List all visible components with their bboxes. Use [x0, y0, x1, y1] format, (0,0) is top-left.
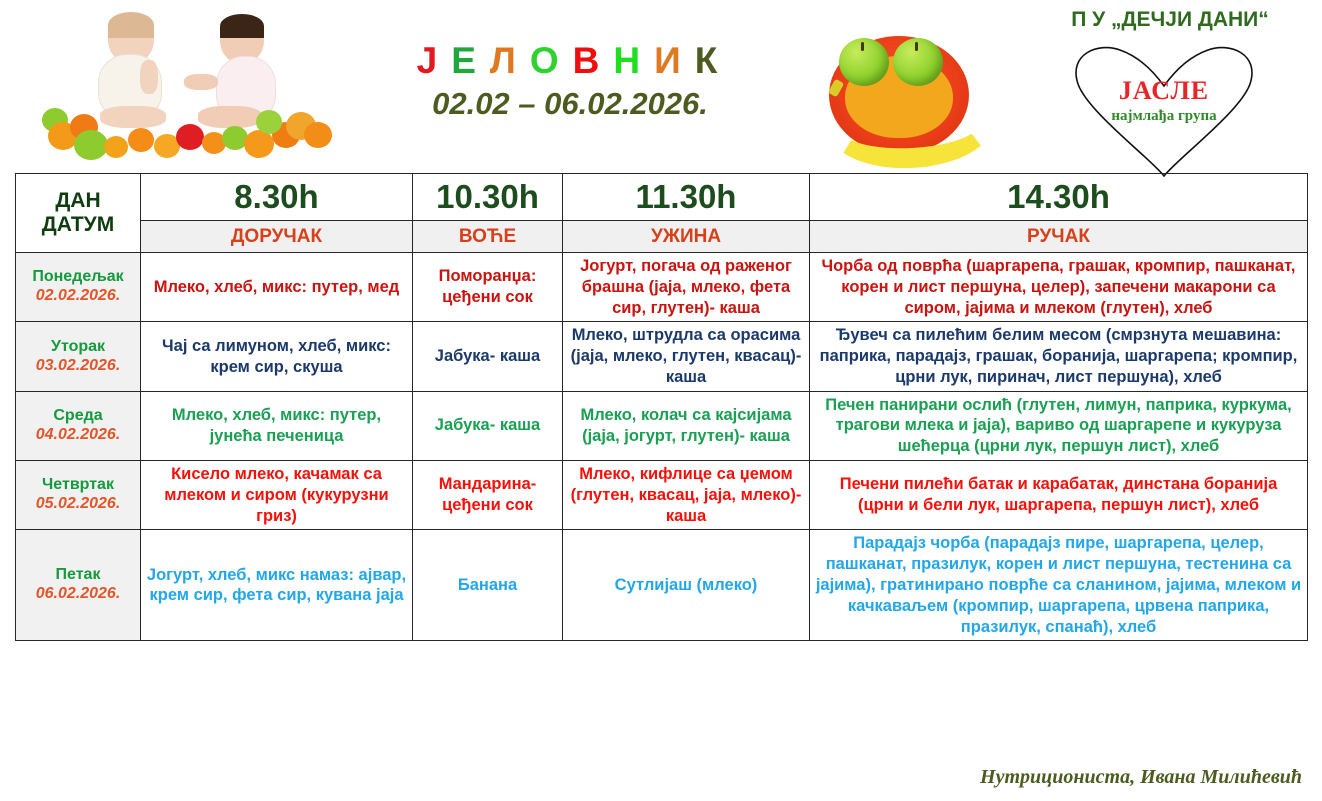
table-header-meals-row: ДОРУЧАК ВОЋЕ УЖИНА РУЧАК — [16, 221, 1308, 253]
breakfast-cell: Кисело млеко, качамак са млеком и сиром … — [141, 461, 413, 530]
day-cell: Среда 04.02.2026. — [16, 391, 141, 460]
breakfast-cell: Млеко, хлеб, микс: путер, мед — [141, 253, 413, 322]
day-name: Среда — [21, 407, 135, 426]
breakfast-cell: Млеко, хлеб, микс: путер, јунећа печениц… — [141, 391, 413, 460]
lunch-cell: Печен панирани ослић (глутен, лимун, пап… — [810, 391, 1308, 460]
day-name: Уторак — [21, 338, 135, 357]
day-date: 06.02.2026. — [21, 585, 135, 604]
title-letter: Ј — [413, 40, 448, 81]
heart-outline-icon: ЈАСЛЕ најмлађа група — [1054, 40, 1274, 180]
snack-cell: Млеко, кифлице са џемом (глутен, квасац,… — [563, 461, 810, 530]
title-letter: Е — [447, 40, 486, 81]
lunch-cell: Чорба од поврћа (шаргарепа, грашак, кром… — [810, 253, 1308, 322]
time-header-fruit: 10.30h — [413, 174, 563, 221]
lunch-cell: Ђувеч са пилећим белим месом (смрзнута м… — [810, 322, 1308, 391]
page-title: ЈЕЛОВНИК — [360, 40, 780, 82]
institution-logo-block: П У „ДЕЧЈИ ДАНИ“ ЈАСЛЕ најмлађа група — [1020, 8, 1320, 176]
day-name: Понедељак — [21, 268, 135, 287]
banana-mouth-icon — [827, 82, 995, 172]
apple-eye-right-icon — [893, 38, 943, 86]
lunch-cell: Парадајз чорба (парадајз пире, шаргарепа… — [810, 530, 1308, 641]
fruit-cell: Поморанџа: цеђени сок — [413, 253, 563, 322]
time-header-breakfast: 8.30h — [141, 174, 413, 221]
day-date: 04.02.2026. — [21, 426, 135, 445]
day-header-label: ДАН — [55, 189, 100, 212]
date-range: 02.02 – 06.02.2026. — [360, 86, 780, 122]
day-date: 03.02.2026. — [21, 357, 135, 376]
table-row: Среда 04.02.2026. Млеко, хлеб, микс: пут… — [16, 391, 1308, 460]
group-subtitle: најмлађа група — [1054, 108, 1274, 125]
breakfast-cell: Јогурт, хлеб, микс намаз: ајвар, крем си… — [141, 530, 413, 641]
meal-header-breakfast: ДОРУЧАК — [141, 221, 413, 253]
meal-header-fruit: ВОЋЕ — [413, 221, 563, 253]
babies-with-fruit-photo — [8, 2, 338, 164]
snack-cell: Јогурт, погача од раженог брашна (јаја, … — [563, 253, 810, 322]
meal-header-lunch: РУЧАК — [810, 221, 1308, 253]
fruit-cell: Мандарина- цеђени сок — [413, 461, 563, 530]
fruit-cell: Јабука- каша — [413, 322, 563, 391]
title-letter: В — [569, 40, 610, 81]
lunch-cell: Печени пилећи батак и карабатак, динстан… — [810, 461, 1308, 530]
title-letter: Н — [609, 40, 650, 81]
date-header-label: ДАТУМ — [42, 213, 114, 236]
time-header-lunch: 14.30h — [810, 174, 1308, 221]
day-cell: Уторак 03.02.2026. — [16, 322, 141, 391]
day-cell: Четвртак 05.02.2026. — [16, 461, 141, 530]
time-header-snack: 11.30h — [563, 174, 810, 221]
title-letter: Л — [486, 40, 526, 81]
breakfast-cell: Чај са лимуном, хлеб, микс: крем сир, ск… — [141, 322, 413, 391]
snack-cell: Сутлијаш (млеко) — [563, 530, 810, 641]
title-letter: О — [526, 40, 569, 81]
institution-name: П У „ДЕЧЈИ ДАНИ“ — [1020, 8, 1320, 32]
nutritionist-signature: Нутрициониста, Ивана Милићевић — [980, 766, 1302, 789]
table-row: Четвртак 05.02.2026. Кисело млеко, качам… — [16, 461, 1308, 530]
meal-header-snack: УЖИНА — [563, 221, 810, 253]
day-name: Четвртак — [21, 476, 135, 495]
day-date: 02.02.2026. — [21, 287, 135, 306]
day-date-header: ДАН ДАТУМ — [16, 174, 141, 253]
day-cell: Понедељак 02.02.2026. — [16, 253, 141, 322]
header-band: ЈЕЛОВНИК 02.02 – 06.02.2026. П У „ДЕЧЈИ … — [0, 0, 1322, 170]
table-row: Петак 06.02.2026. Јогурт, хлеб, микс нам… — [16, 530, 1308, 641]
fruit-smiley-plate-photo — [815, 22, 985, 157]
apple-eye-left-icon — [839, 38, 889, 86]
day-name: Петак — [21, 566, 135, 585]
table-row: Уторак 03.02.2026. Чај са лимуном, хлеб,… — [16, 322, 1308, 391]
day-date: 05.02.2026. — [21, 495, 135, 514]
table-header-times-row: ДАН ДАТУМ 8.30h 10.30h 11.30h 14.30h — [16, 174, 1308, 221]
title-letter: И — [650, 40, 691, 81]
title-letter: К — [691, 40, 728, 81]
fruit-cell: Јабука- каша — [413, 391, 563, 460]
fruit-cell: Банана — [413, 530, 563, 641]
snack-cell: Млеко, колач са кајсијама (јаја, јогурт,… — [563, 391, 810, 460]
group-name: ЈАСЛЕ — [1054, 76, 1274, 106]
weekly-menu-table: ДАН ДАТУМ 8.30h 10.30h 11.30h 14.30h ДОР… — [15, 173, 1308, 641]
title-block: ЈЕЛОВНИК 02.02 – 06.02.2026. — [360, 40, 780, 122]
snack-cell: Млеко, штрудла са орасима (јаја, млеко, … — [563, 322, 810, 391]
day-cell: Петак 06.02.2026. — [16, 530, 141, 641]
table-row: Понедељак 02.02.2026. Млеко, хлеб, микс:… — [16, 253, 1308, 322]
